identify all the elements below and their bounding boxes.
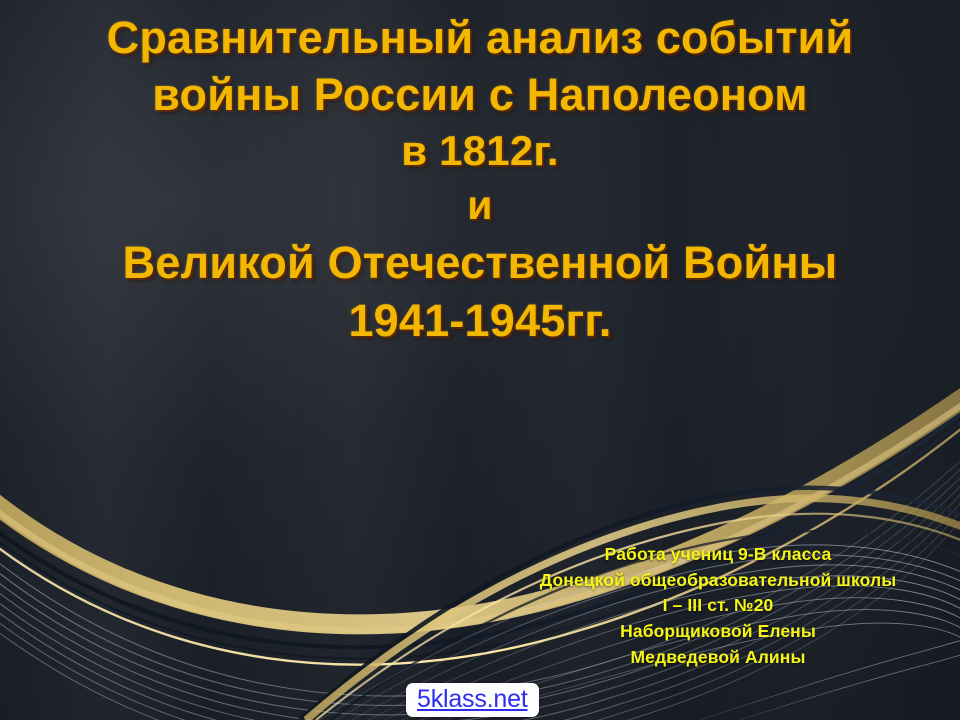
credit-line-author-2: Медведевой Алины	[488, 645, 948, 671]
title-line-4-conjunction: и	[0, 184, 960, 227]
title-line-6: 1941-1945гг.	[0, 297, 960, 345]
credit-line-author-1: Наборщиковой Елены	[488, 619, 948, 645]
slide-title: Сравнительный анализ событий войны Росси…	[0, 6, 960, 345]
credit-line-school-number: I – III ст. №20	[488, 593, 948, 619]
author-credits-block: Работа учениц 9-В класса Донецкой общеоб…	[488, 542, 948, 671]
watermark-link[interactable]: 5klass.net	[417, 685, 528, 713]
title-line-5: Великой Отечественной Войны	[0, 239, 960, 287]
title-line-1: Сравнительный анализ событий	[0, 14, 960, 62]
credit-line-school: Донецкой общеобразовательной школы	[488, 568, 948, 594]
watermark-badge[interactable]: 5klass.net	[406, 683, 539, 717]
presentation-slide: Сравнительный анализ событий войны Росси…	[0, 0, 960, 720]
title-line-3: в 1812г.	[0, 129, 960, 174]
credit-line-class: Работа учениц 9-В класса	[488, 542, 948, 568]
title-line-2: войны России с Наполеоном	[0, 71, 960, 119]
